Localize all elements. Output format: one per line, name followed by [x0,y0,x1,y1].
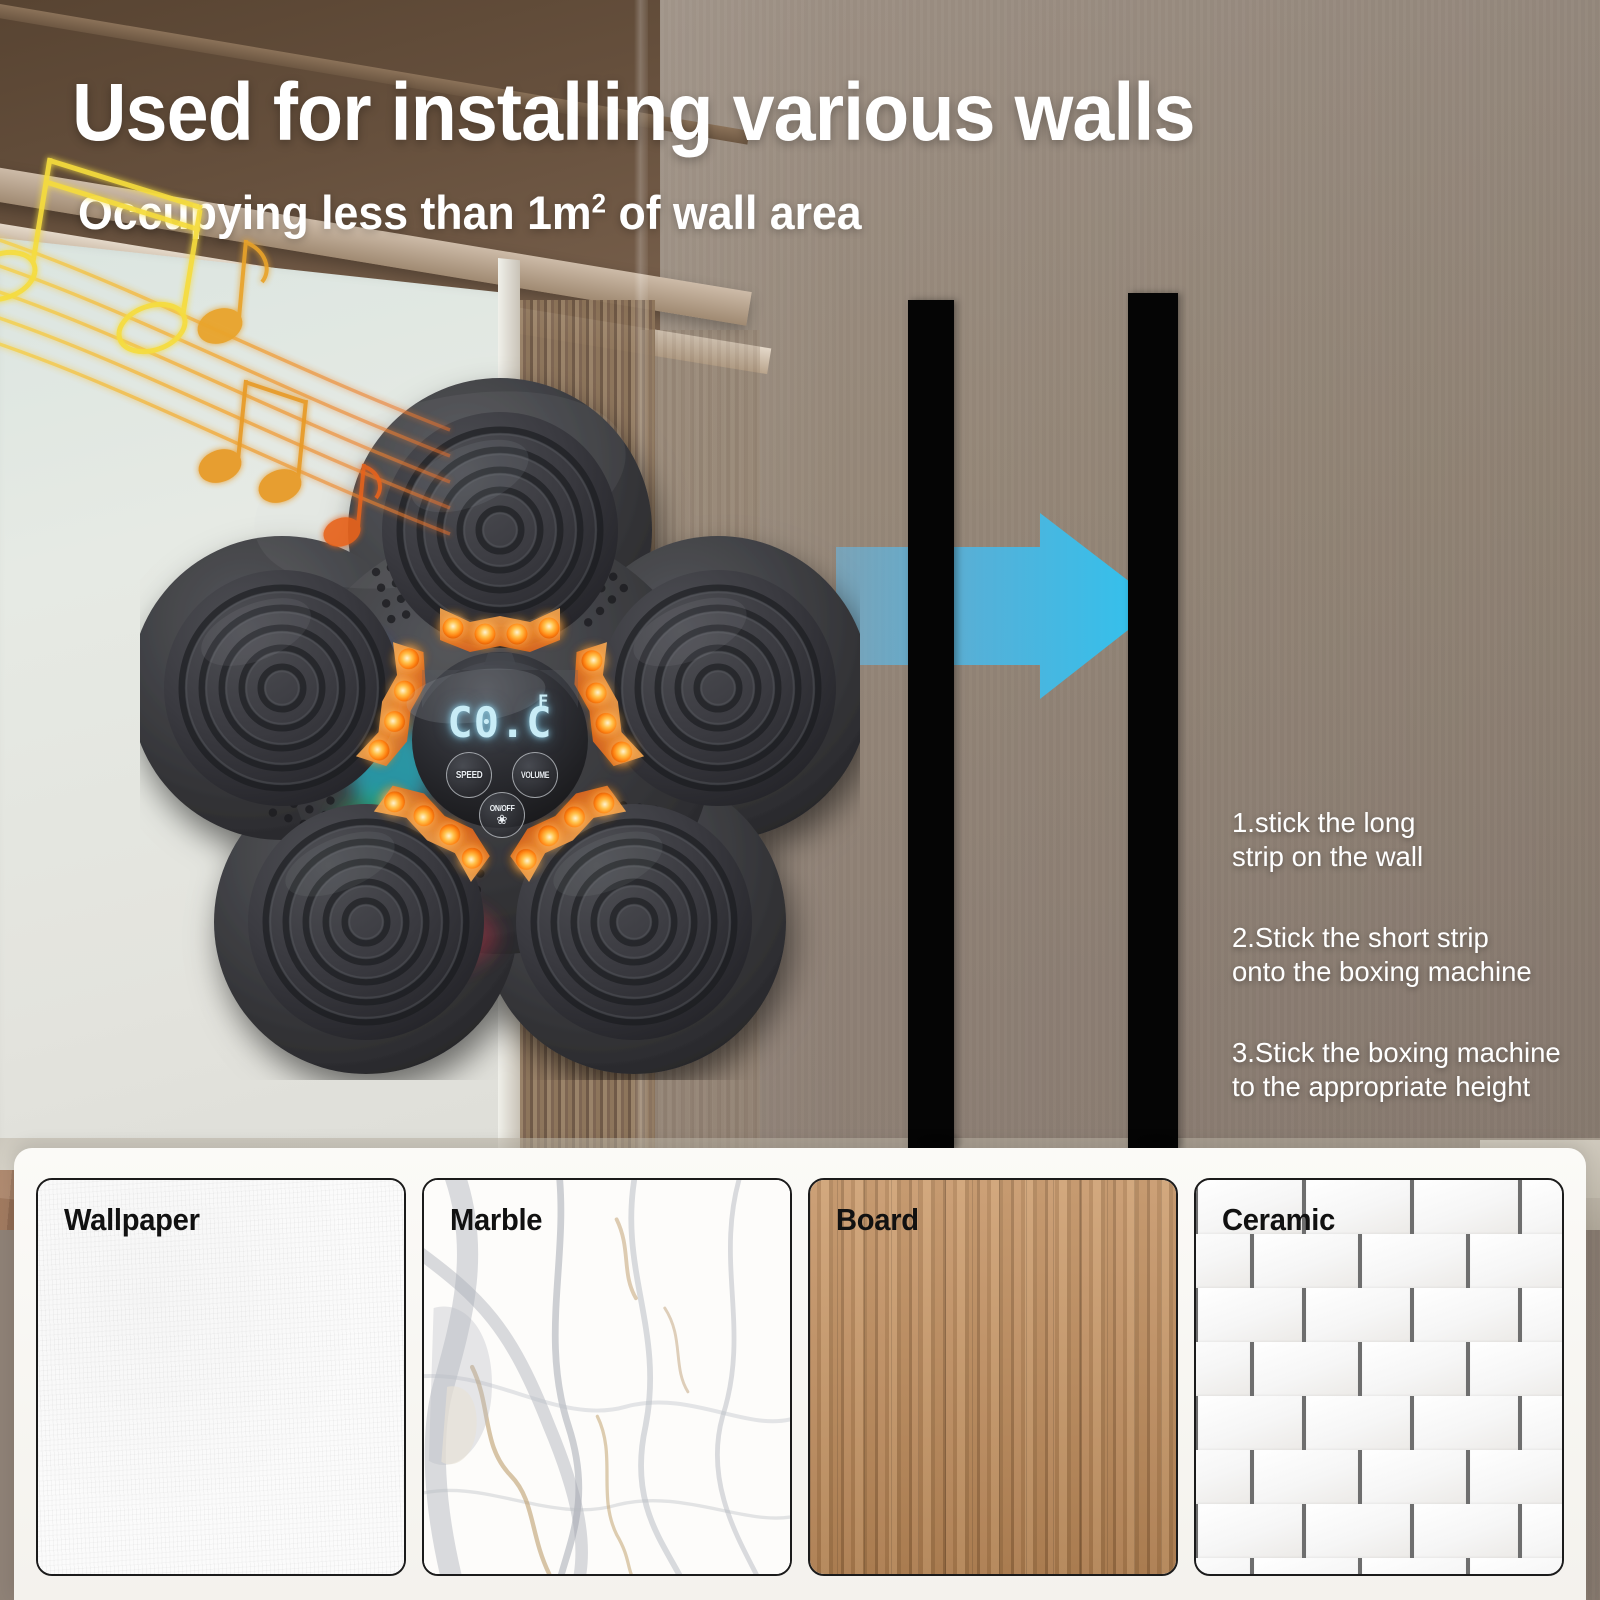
ceramic-tile [1194,1234,1250,1288]
ceramic-tile [1362,1234,1466,1288]
marble-texture [424,1180,790,1574]
ceramic-tile [1306,1396,1410,1450]
material-swatch-panel: Wallpaper [14,1148,1586,1600]
page-subtitle: Occupying less than 1m2 of wall area [78,188,1123,237]
instruction-step-3: 3.Stick the boxing machine to the approp… [1232,1036,1590,1103]
material-card-ceramic[interactable]: Ceramic [1194,1178,1564,1576]
instruction-step-1: 1.stick the long strip on the wall [1232,806,1590,873]
page-title: Used for installing various walls [72,72,1424,154]
material-card-marble[interactable]: Marble [422,1178,792,1576]
ceramic-tile [1362,1450,1466,1504]
ceramic-tile-row [1194,1234,1564,1288]
subtitle-text-after: of wall area [606,186,862,239]
material-label-board: Board [836,1202,919,1238]
ceramic-texture [1196,1180,1562,1574]
ceramic-tile [1198,1288,1302,1342]
ceramic-tile [1194,1558,1250,1576]
ceramic-tile-row [1196,1504,1564,1558]
ceramic-tile-row [1194,1450,1564,1504]
wall-strip-long-second [1128,293,1178,1155]
ceramic-tile [1306,1288,1410,1342]
ceramic-tile [1470,1450,1564,1504]
product-infographic: Used for installing various walls Occupy… [0,0,1600,1600]
ceramic-tile [1254,1558,1358,1576]
ceramic-tile [1194,1450,1250,1504]
material-card-wallpaper[interactable]: Wallpaper [36,1178,406,1576]
material-label-ceramic: Ceramic [1222,1202,1335,1238]
ceramic-tile [1470,1234,1564,1288]
ceramic-tile [1522,1288,1564,1342]
ceramic-tile-row [1196,1396,1564,1450]
material-card-board[interactable]: Board [808,1178,1178,1576]
ceramic-tile-row [1194,1558,1564,1576]
material-label-marble: Marble [450,1202,542,1238]
ceramic-tile [1198,1504,1302,1558]
ceramic-tile [1522,1504,1564,1558]
ceramic-tile [1522,1180,1564,1234]
wall-strip-long [908,300,954,1155]
ceramic-tile [1306,1504,1410,1558]
installation-instructions: 1.stick the long strip on the wall 2.Sti… [1232,806,1590,1103]
ceramic-tile [1470,1342,1564,1396]
instruction-step-2: 2.Stick the short strip onto the boxing … [1232,921,1590,988]
ceramic-tile [1414,1396,1518,1450]
ceramic-tile [1414,1504,1518,1558]
ceramic-tile [1362,1558,1466,1576]
ceramic-tile-row [1194,1342,1564,1396]
ceramic-tile [1254,1342,1358,1396]
ceramic-tile [1198,1396,1302,1450]
ceramic-tile [1470,1558,1564,1576]
ceramic-tile [1414,1288,1518,1342]
ceramic-tile [1194,1342,1250,1396]
music-boxing-machine[interactable]: C0.C F SPEED VOLUME ON/OFF ❀ [140,340,860,1080]
subtitle-text-before: Occupying less than 1m [78,186,592,239]
subtitle-superscript: 2 [592,187,606,218]
material-label-wallpaper: Wallpaper [64,1202,200,1238]
wallpaper-texture [38,1180,404,1574]
ceramic-tile-row [1196,1288,1564,1342]
ceramic-tile [1254,1450,1358,1504]
ceramic-tile [1522,1396,1564,1450]
ceramic-tile [1254,1234,1358,1288]
ceramic-tile [1362,1342,1466,1396]
ceramic-tile [1414,1180,1518,1234]
board-texture [810,1180,1176,1574]
